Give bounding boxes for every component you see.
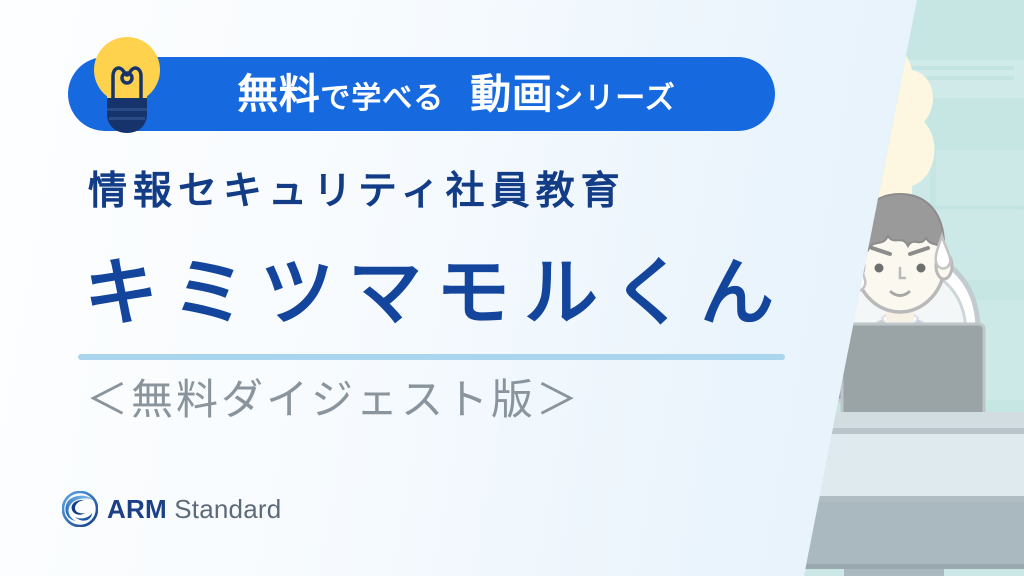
arm-standard-logo: ARM Standard [62,491,281,527]
sweat-drop-left [851,258,866,290]
bulb-base [107,98,147,133]
lightbulb-icon [90,32,164,136]
heading-divider [78,354,785,360]
desk [774,412,1024,496]
category-heading: 情報セキュリティ社員教育 [88,172,626,211]
logo-brand: ARM [107,494,167,524]
bulb-base-ring-1 [107,108,147,111]
edition-label: ＜無料ダイジェスト版＞ [86,379,581,421]
badge-part1-kana: で学べる [320,84,444,114]
office-scene-illustration [774,0,1024,576]
arm-standard-swirl-icon [62,491,98,527]
logo-product: Standard [174,494,281,524]
badge-part1-kanji: 無料 [237,74,320,115]
slide-canvas: 無料で学べる動画シリーズ 情報セキュリティ社員教育 キミツマモルくん ＜無料ダイ… [0,0,1024,576]
foreground-monitor [774,496,1024,576]
free-video-series-badge: 無料で学べる動画シリーズ [68,57,775,131]
badge-text: 無料で学べる動画シリーズ [237,74,676,115]
badge-part2-kanji: 動画 [470,74,553,115]
bulb-base-ring-2 [109,117,145,120]
logo-wordmark: ARM Standard [107,496,281,522]
badge-part2-kana: シリーズ [553,84,676,114]
illustration-panel [774,0,1024,576]
product-name-heading: キミツマモルくん [84,252,788,335]
